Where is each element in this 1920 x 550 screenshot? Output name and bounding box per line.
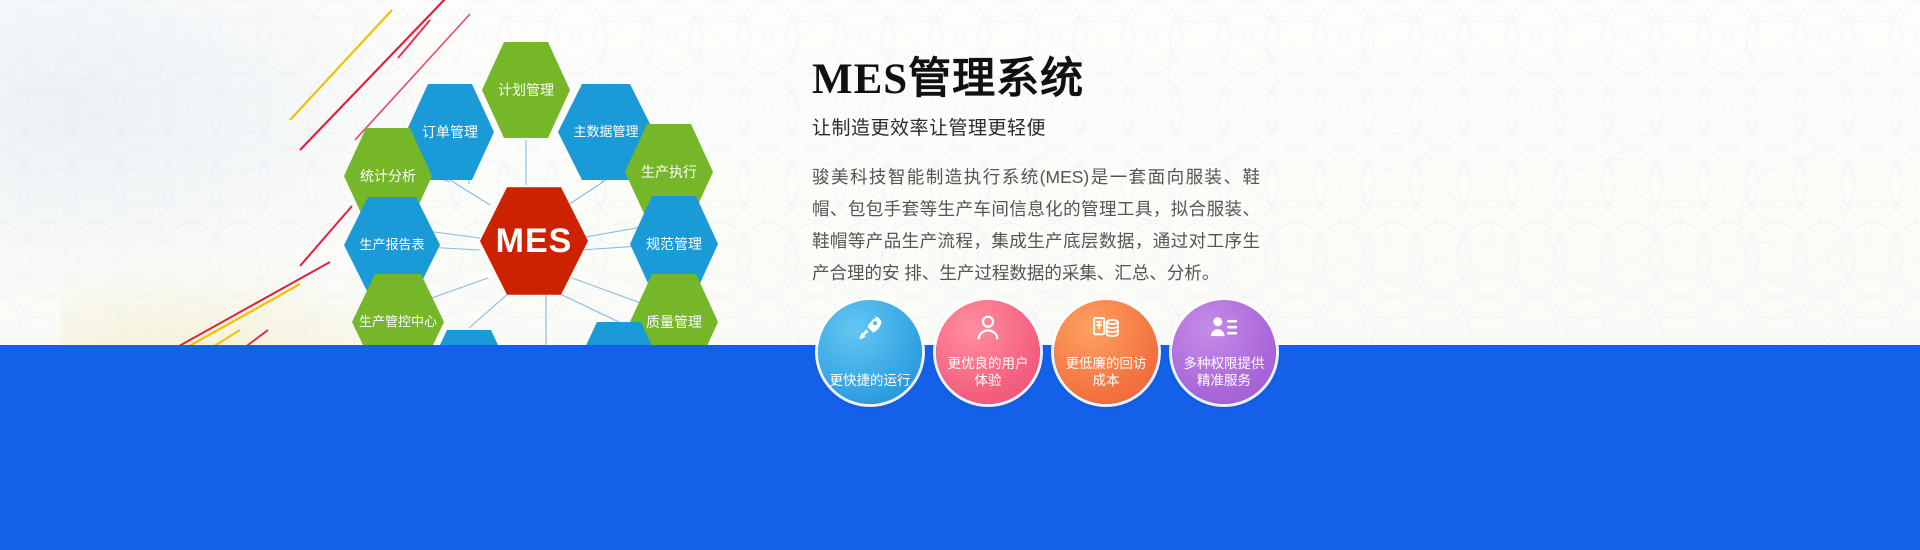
- coins-icon: [1054, 313, 1158, 343]
- rocket-icon: [818, 313, 922, 343]
- hex-center-label: MES: [490, 221, 579, 261]
- hex-node-label: 生产管控中心: [353, 314, 443, 329]
- feature-badge[interactable]: 更低廉的回访成本: [1054, 300, 1158, 404]
- hex-node-label: 订单管理: [416, 124, 484, 141]
- description-paragraph: 骏美科技智能制造执行系统(MES)是一套面向服装、鞋帽、包包手套等生产车间信息化…: [812, 162, 1260, 289]
- user-icon: [936, 313, 1040, 343]
- feature-badge[interactable]: 多种权限提供精准服务: [1172, 300, 1276, 404]
- feature-badge-label: 多种权限提供精准服务: [1172, 355, 1276, 390]
- hex-node-label: 生产报告表: [353, 237, 430, 252]
- feature-badge-list: 更快捷的运行更优良的用户体验更低廉的回访成本多种权限提供精准服务: [818, 300, 1276, 404]
- feature-badge-label: 更优良的用户体验: [936, 355, 1040, 390]
- hex-node-label: 质量管理: [640, 314, 708, 331]
- feature-badge[interactable]: 更优良的用户体验: [936, 300, 1040, 404]
- feature-badge[interactable]: 更快捷的运行: [818, 300, 922, 404]
- feature-badge-label: 更低廉的回访成本: [1054, 355, 1158, 390]
- hex-node-label: 主数据管理: [567, 124, 644, 139]
- banner-stage: 计划管理订单管理主数据管理统计分析生产执行生产报告表规范管理生产管控中心质量管理…: [0, 0, 1920, 550]
- page-title: MES管理系统: [812, 58, 1332, 101]
- feature-badge-label: 更快捷的运行: [824, 372, 917, 390]
- user-list-icon: [1172, 313, 1276, 343]
- banner-text-block: MES管理系统 让制造更效率让管理更轻便 骏美科技智能制造执行系统(MES)是一…: [812, 58, 1332, 289]
- page-subtitle: 让制造更效率让管理更轻便: [812, 113, 1332, 140]
- hex-node-label: 计划管理: [492, 82, 560, 99]
- hex-node-label: 规范管理: [640, 236, 708, 253]
- hex-node-label: 统计分析: [354, 168, 422, 185]
- hex-node-label: 生产执行: [635, 164, 703, 181]
